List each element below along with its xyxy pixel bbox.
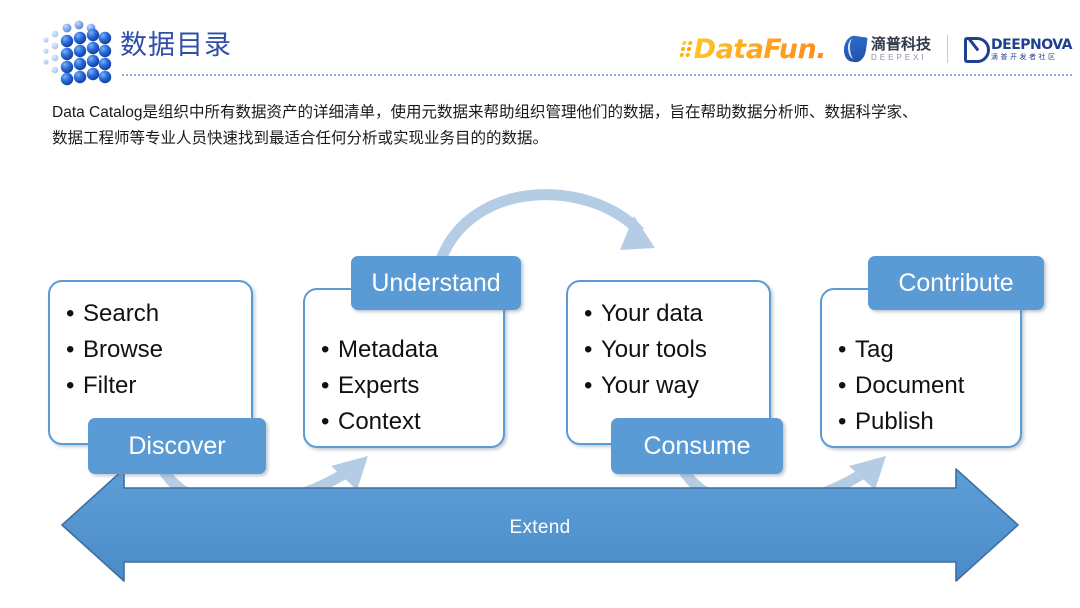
data-catalog-lifecycle-diagram: Extend Search Browse Filter Discover Met…	[0, 170, 1080, 608]
list-item: Your way	[584, 368, 769, 404]
list-item: Filter	[66, 368, 251, 404]
list-item: Tag	[838, 332, 1020, 368]
datafun-logo: DataFun.	[681, 36, 826, 63]
datafun-dots-icon	[679, 41, 692, 57]
deepnova-en-label: DEEPNOVA	[991, 38, 1072, 52]
stage-items-understand: Metadata Experts Context	[321, 332, 503, 440]
brand-logo-group: DataFun. 滴普科技 DEEPEXI DEEPNOVA 滴普开发者社区	[681, 28, 1072, 70]
stage-label-contribute[interactable]: Contribute	[868, 256, 1044, 310]
list-item: Document	[838, 368, 1020, 404]
stage-items-contribute: Tag Document Publish	[838, 332, 1020, 440]
stage-items-discover: Search Browse Filter	[66, 296, 251, 404]
list-item: Your data	[584, 296, 769, 332]
deepexi-cn-label: 滴普科技	[871, 37, 931, 52]
stage-card-contribute: Tag Document Publish	[820, 288, 1022, 448]
blue-sphere-cube-icon	[36, 14, 118, 88]
stage-label-discover[interactable]: Discover	[88, 418, 266, 474]
deepnova-logo: DEEPNOVA 滴普开发者社区	[964, 37, 1072, 61]
header-divider	[122, 74, 1074, 76]
deepnova-cn-label: 滴普开发者社区	[991, 54, 1072, 61]
datafun-wordmark: DataFun.	[694, 36, 826, 63]
list-item: Browse	[66, 332, 251, 368]
list-item: Context	[321, 404, 503, 440]
deepnova-d-icon	[964, 37, 987, 61]
stage-card-understand: Metadata Experts Context	[303, 288, 505, 448]
list-item: Publish	[838, 404, 1020, 440]
brand-divider	[947, 35, 948, 63]
list-item: Your tools	[584, 332, 769, 368]
stage-items-consume: Your data Your tools Your way	[584, 296, 769, 404]
deepexi-logo: 滴普科技 DEEPEXI	[844, 36, 931, 62]
list-item: Search	[66, 296, 251, 332]
page-title: 数据目录	[120, 32, 232, 59]
stage-label-understand[interactable]: Understand	[351, 256, 521, 310]
deepexi-en-label: DEEPEXI	[871, 54, 931, 62]
intro-paragraph: Data Catalog是组织中所有数据资产的详细清单，使用元数据来帮助组织管理…	[52, 100, 932, 152]
stage-label-consume[interactable]: Consume	[611, 418, 783, 474]
list-item: Experts	[321, 368, 503, 404]
arrow-understand-to-consume	[440, 195, 655, 262]
page-header: 数据目录 DataFun. 滴普科技 DEEPEXI DEEPNOVA 滴普	[0, 0, 1080, 86]
list-item: Metadata	[321, 332, 503, 368]
deepexi-droplet-icon	[842, 35, 867, 64]
